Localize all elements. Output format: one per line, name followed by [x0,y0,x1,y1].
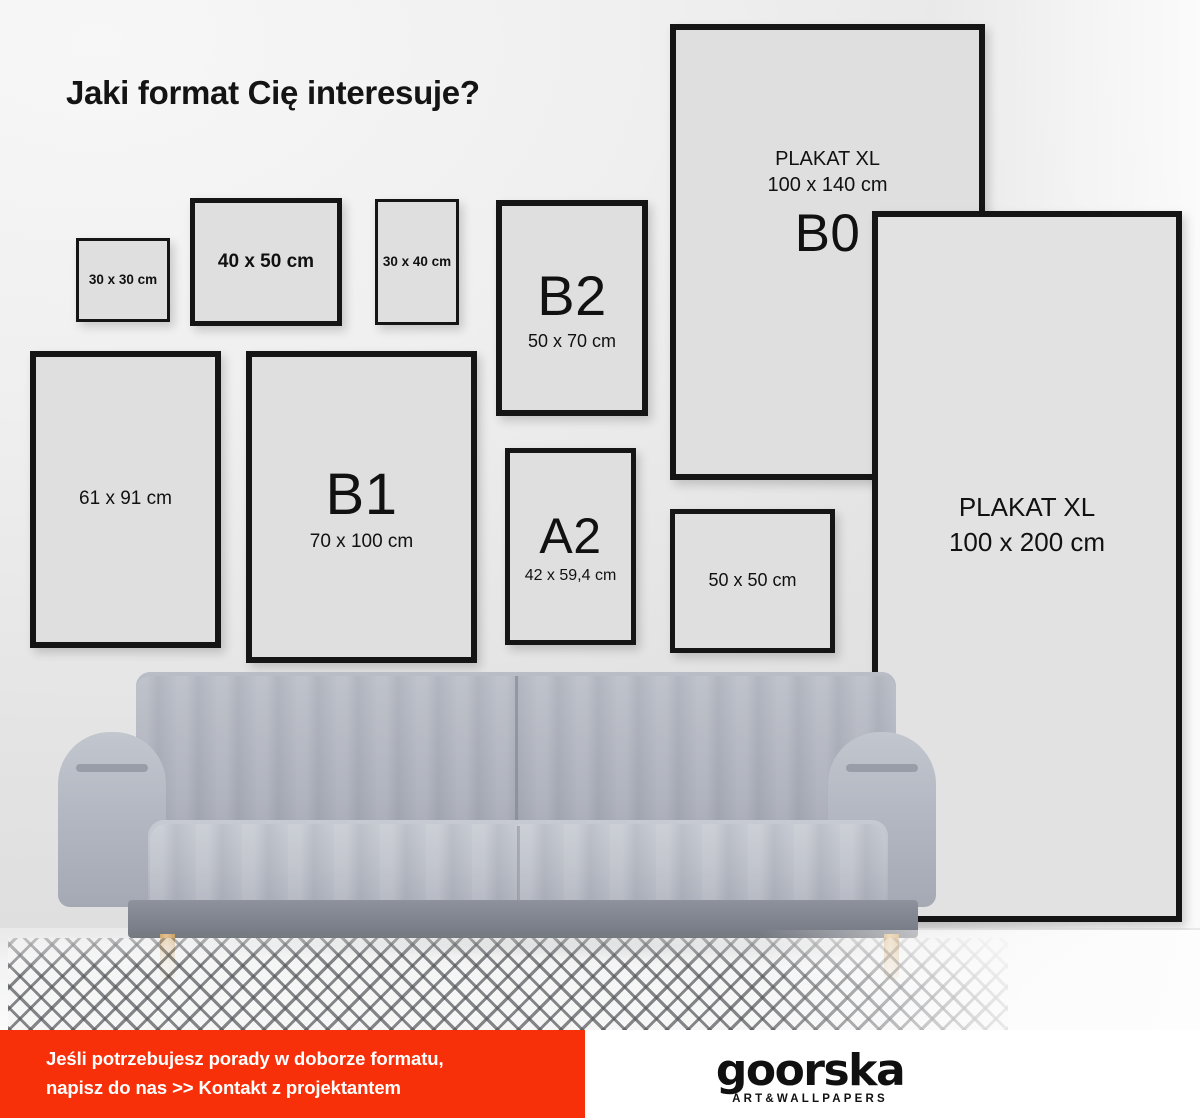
frame-40x50[interactable]: 40 x 50 cm [190,198,342,326]
frame-b1[interactable]: B1 70 x 100 cm [246,351,477,663]
brand-logo: goorska ART&WALLPAPERS [690,1050,930,1105]
frame-a2[interactable]: A2 42 x 59,4 cm [505,448,636,645]
frame-30x40-size: 30 x 40 cm [383,254,451,270]
sofa [38,672,938,962]
frame-40x50-size: 40 x 50 cm [218,251,314,273]
frame-61x91[interactable]: 61 x 91 cm [30,351,221,648]
frame-xl200-label: PLAKAT XL [959,492,1095,523]
bottom-bar: Jeśli potrzebujesz porady w doborze form… [0,1030,1200,1118]
cta-line-1: Jeśli potrzebujesz porady w doborze form… [46,1045,585,1074]
frame-b2-code: B2 [537,263,607,329]
frame-xl200-size: 100 x 200 cm [949,527,1105,558]
frame-30x40[interactable]: 30 x 40 cm [375,199,459,325]
frame-b1-size: 70 x 100 cm [310,531,414,553]
frame-b2-size: 50 x 70 cm [528,331,616,352]
frame-30x30[interactable]: 30 x 30 cm [76,238,170,322]
frame-61x91-size: 61 x 91 cm [79,488,172,510]
frame-30x30-size: 30 x 30 cm [89,272,157,288]
poster-size-guide: PLAKAT XL 100 x 140 cm B0 PLAKAT XL 100 … [0,0,1200,1118]
rug-fade [760,930,1200,1034]
frame-b2[interactable]: B2 50 x 70 cm [496,200,648,416]
frame-b1-code: B1 [326,461,398,529]
cta-line-2: napisz do nas >> Kontakt z projektantem [46,1074,585,1103]
frame-b0-label: PLAKAT XL [775,148,880,172]
frame-b0-code: B0 [795,203,861,266]
brand-tagline: ART&WALLPAPERS [732,1093,888,1105]
frame-b0-size: 100 x 140 cm [767,174,887,198]
brand-name: goorska [716,1050,904,1092]
page-title: Jaki format Cię interesuje? [66,74,480,112]
frame-50x50[interactable]: 50 x 50 cm [670,509,835,653]
frame-50x50-size: 50 x 50 cm [708,570,796,591]
frame-a2-code: A2 [539,507,601,566]
frame-a2-size: 42 x 59,4 cm [525,567,617,586]
contact-designer-cta[interactable]: Jeśli potrzebujesz porady w doborze form… [0,1030,585,1118]
